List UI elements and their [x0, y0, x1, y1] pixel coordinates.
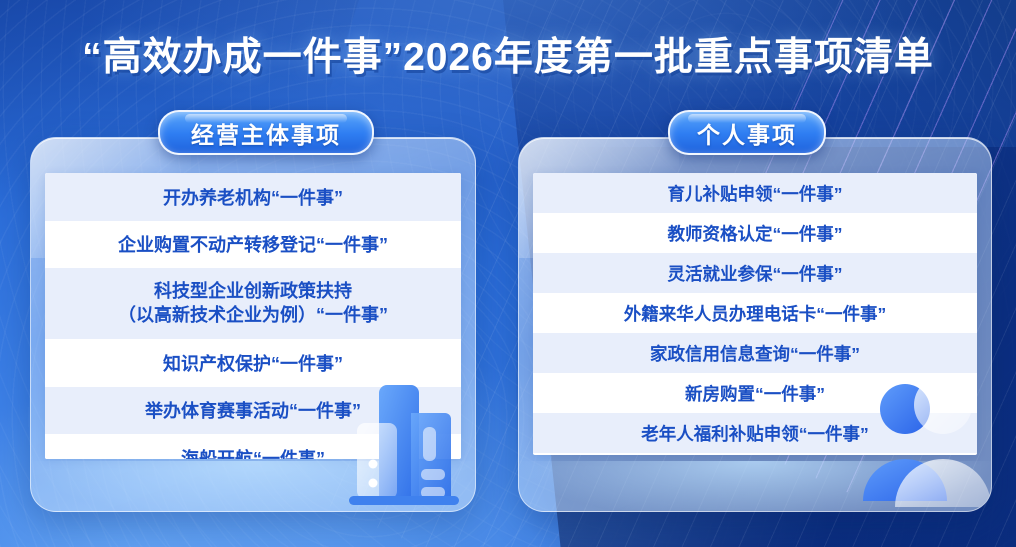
- list-item[interactable]: 新房购置“一件事”: [533, 373, 977, 413]
- page-title: “高效办成一件事”2026年度第一批重点事项清单: [0, 26, 1016, 82]
- card-personal: 育儿补贴申领“一件事” 教师资格认定“一件事” 灵活就业参保“一件事” 外籍来华…: [518, 137, 992, 512]
- business-item-list: 开办养老机构“一件事” 企业购置不动产转移登记“一件事” 科技型企业创新政策扶持…: [45, 173, 461, 459]
- card-header-business-entity[interactable]: 经营主体事项: [158, 110, 374, 155]
- list-item[interactable]: 家政信用信息查询“一件事”: [533, 333, 977, 373]
- list-item[interactable]: 育儿补贴申领“一件事”: [533, 173, 977, 213]
- list-item[interactable]: 老年人福利补贴申领“一件事”: [533, 413, 977, 453]
- list-item[interactable]: 海船开航“一件事”: [45, 434, 461, 459]
- list-item[interactable]: 开办养老机构“一件事”: [45, 173, 461, 221]
- list-item[interactable]: 灵活就业参保“一件事”: [533, 253, 977, 293]
- personal-item-list: 育儿补贴申领“一件事” 教师资格认定“一件事” 灵活就业参保“一件事” 外籍来华…: [533, 173, 977, 455]
- list-item[interactable]: 教师资格认定“一件事”: [533, 213, 977, 253]
- card-header-personal[interactable]: 个人事项: [668, 110, 826, 155]
- poster-stage: “高效办成一件事”2026年度第一批重点事项清单: [0, 0, 1016, 547]
- list-item[interactable]: 举办体育赛事活动“一件事”: [45, 387, 461, 435]
- list-item[interactable]: 外籍来华人员办理电话卡“一件事”: [533, 293, 977, 333]
- list-item[interactable]: 科技型企业创新政策扶持 （以高新技术企业为例）“一件事”: [45, 268, 461, 339]
- list-item[interactable]: 企业购置不动产转移登记“一件事”: [45, 221, 461, 269]
- card-business-entity: 开办养老机构“一件事” 企业购置不动产转移登记“一件事” 科技型企业创新政策扶持…: [30, 137, 476, 512]
- list-item[interactable]: 知识产权保护“一件事”: [45, 339, 461, 387]
